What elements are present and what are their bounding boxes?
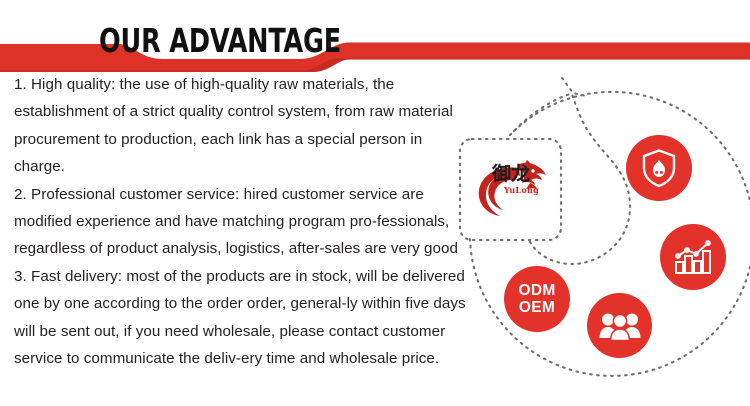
page-title: OUR ADVANTAGE [99,23,341,59]
advantage-text-block: 1. High quality: the use of high-quality… [14,71,466,372]
people-group-icon [599,311,641,341]
advantage-paragraph-2: 2. Professional customer service: hired … [14,181,466,263]
advantage-page: OUR ADVANTAGE 1. High quality: the use o… [0,0,750,406]
advantage-diagram: 御龙 YuLong ODM OEM [450,72,750,406]
advantage-paragraph-1: 1. High quality: the use of high-quality… [14,71,466,181]
odm-line: ODM [518,282,555,299]
company-logo: 御龙 YuLong [460,139,561,240]
logo-english-text: YuLong [504,185,539,195]
bar-chart-line-icon [672,237,714,277]
badge-service[interactable] [587,293,652,358]
odm-oem-label: ODM OEM [518,282,555,316]
oem-line: OEM [518,299,555,316]
badge-quality[interactable] [626,135,692,201]
badge-odm-oem[interactable]: ODM OEM [504,266,570,332]
banner: OUR ADVANTAGE [0,0,750,72]
shield-flame-icon [640,148,678,188]
logo-chinese-text: 御龙 [492,164,530,184]
dashed-arrowhead [562,78,586,96]
advantage-paragraph-3: 3. Fast delivery: most of the products a… [14,263,466,373]
badge-growth[interactable] [660,224,726,290]
